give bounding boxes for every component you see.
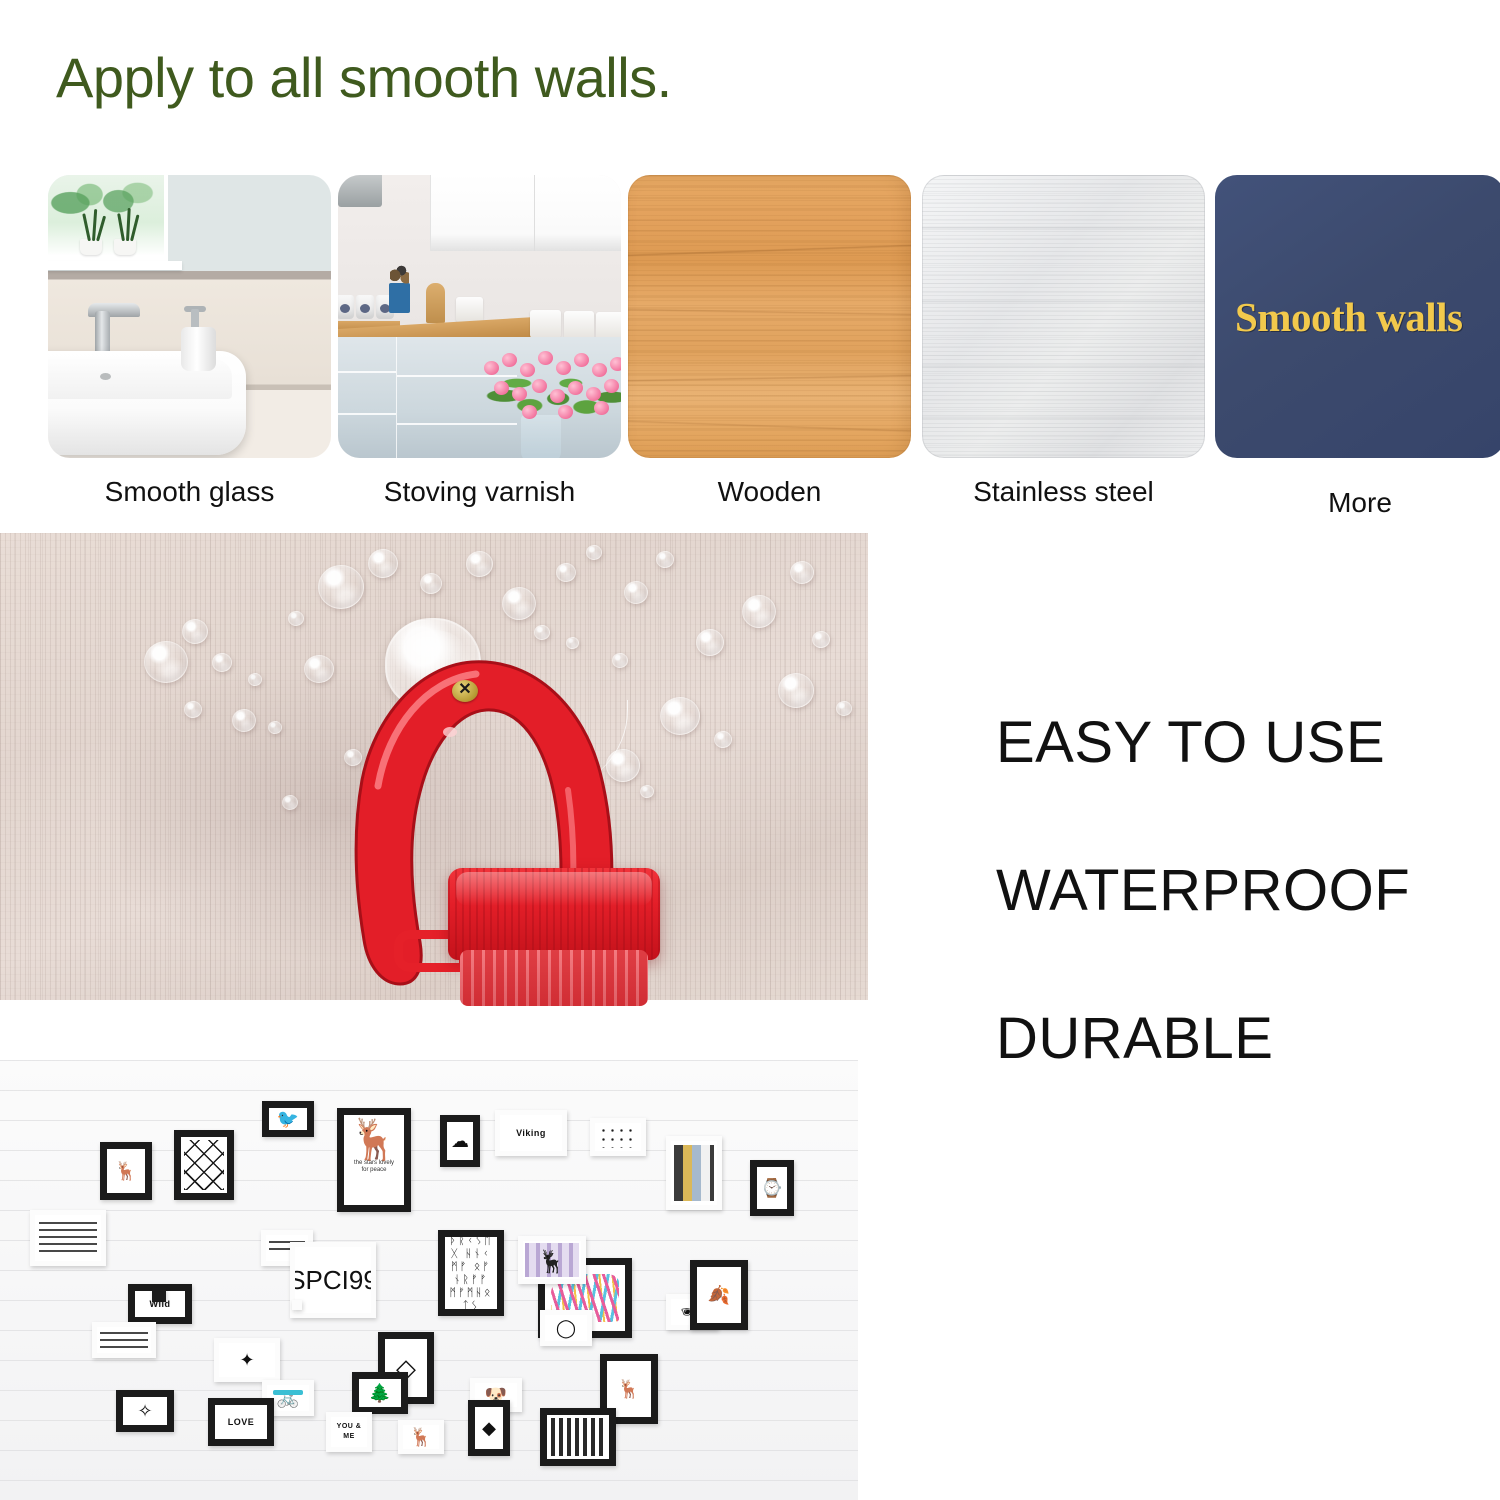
feature-waterproof: WATERPROOF [996, 860, 1476, 922]
photo-frame-wall-photo: 🦌 🐦 🦌 the stars lovely for peace ☁ Vikin… [0, 1060, 858, 1500]
drain-icon [100, 373, 111, 380]
plant-pot-icon [80, 239, 102, 255]
frame-colour-grid [666, 1136, 722, 1210]
frame-antlers-quote: 🦌 the stars lovely for peace [337, 1108, 411, 1212]
water-drop [836, 701, 852, 716]
frame-barcode-text [92, 1322, 156, 1358]
soap-dispenser-pump [191, 309, 199, 329]
soap-dispenser-icon [181, 327, 216, 371]
frame-abstract-bw: ◆ [468, 1400, 510, 1456]
frame-pine-tree: 🌲 [352, 1372, 408, 1414]
water-drop [790, 561, 814, 584]
bottle-neck [460, 950, 648, 1006]
water-drop [268, 721, 282, 734]
barcode-icon [100, 1332, 148, 1349]
surface-item-smooth-glass: Smooth glass [48, 175, 331, 509]
quote-text: the stars lovely for peace [350, 1160, 398, 1174]
surface-caption-wooden: Wooden [628, 475, 911, 509]
surface-caption-smooth-glass: Smooth glass [48, 475, 331, 509]
kitchen-cabinets-photo [338, 175, 621, 458]
sink-basin [48, 351, 246, 455]
utensil-holder-icon [389, 283, 410, 313]
water-drop [420, 573, 442, 594]
frame-deer-line-art: 🦌 [100, 1142, 152, 1200]
frame-love: LOVE [208, 1398, 274, 1446]
spice-jar-icon [338, 295, 354, 319]
spice-jar-icon [356, 295, 374, 319]
frame-bird-silhouette: 🐦 [262, 1101, 314, 1137]
water-drop [466, 551, 493, 577]
abstract-bw-icon: ◆ [482, 1419, 496, 1437]
water-drop [144, 641, 188, 683]
feature-easy-to-use: EASY TO USE [996, 712, 1476, 774]
water-drop [696, 629, 724, 656]
water-drop [184, 701, 202, 718]
surface-item-more: Smooth walls More [1215, 175, 1500, 520]
surface-item-wooden: Wooden [628, 175, 911, 509]
feature-list: EASY TO USE WATERPROOF DURABLE [996, 712, 1476, 1070]
frame-spci99: SPCI99 [290, 1242, 376, 1318]
frame-abstract-ink: ☁ [440, 1115, 480, 1167]
frame-ring-sketch: ◯ [540, 1310, 592, 1346]
frame-spacer [152, 1288, 166, 1302]
ring-icon: ◯ [556, 1319, 576, 1337]
range-hood-icon [338, 175, 382, 207]
rune-text: ᚦᚱᚲᛊᛖᚷ ᚺᚾᚲᛗᚠ ᛟᚠᚾᚱᚠᚠ ᛗᚠᛗᚺᛟᛏᛊ [449, 1244, 493, 1302]
surface-types-strip: Smooth glass [0, 175, 1500, 520]
cutting-board-icon [426, 283, 445, 323]
water-drop [368, 549, 398, 578]
frame-spacer [292, 1300, 302, 1310]
viking-label: Viking [516, 1128, 546, 1138]
frame-reindeer: 🦌 [398, 1420, 444, 1454]
water-drop [534, 625, 550, 640]
frame-braille [590, 1118, 646, 1156]
water-drop [714, 731, 732, 748]
rose-bouquet-icon [476, 327, 621, 458]
pine-tree-icon: 🌲 [369, 1384, 391, 1402]
water-drop [586, 545, 602, 560]
frame-ink-swirl: ✧ [116, 1390, 174, 1432]
surface-item-stoving-varnish: Stoving varnish [338, 175, 621, 509]
window-sill [48, 261, 182, 270]
antlers-icon: 🦌 [344, 1120, 404, 1160]
bike-bar-icon [273, 1390, 303, 1395]
surface-caption-stoving-varnish: Stoving varnish [338, 475, 621, 509]
water-drop [212, 653, 232, 672]
water-drop [318, 565, 364, 609]
bird-brush-icon: ✦ [239, 1351, 254, 1369]
water-drop [502, 587, 536, 620]
water-drop [742, 595, 776, 628]
drawer-line [338, 371, 396, 373]
leaf-icon: 🍂 [708, 1286, 730, 1304]
navy-smooth-wall-swatch: Smooth walls [1215, 175, 1500, 458]
surface-item-stainless-steel: Stainless steel [922, 175, 1205, 509]
spci99-label: SPCI99 [295, 1267, 371, 1293]
surface-caption-stainless-steel: Stainless steel [922, 475, 1205, 509]
plant-pot-icon [114, 239, 136, 255]
clock-icon: ⌚ [761, 1179, 783, 1197]
ink-blot-icon: ☁ [451, 1132, 469, 1150]
water-drop [182, 619, 208, 644]
ink-swirl-icon: ✧ [137, 1402, 152, 1420]
window-icon [48, 175, 168, 261]
upper-cabinets [430, 175, 621, 251]
bird-icon: 🐦 [277, 1110, 299, 1128]
water-drop [656, 551, 674, 568]
drawer-line [338, 413, 396, 415]
page-title: Apply to all smooth walls. [56, 46, 672, 110]
diamond-pattern-icon [184, 1140, 225, 1189]
feature-durable: DURABLE [996, 1008, 1476, 1070]
red-bottle-cap [448, 868, 660, 960]
surface-caption-more: More [1215, 486, 1500, 520]
you-and-me-label: YOU & ME [331, 1422, 367, 1442]
water-drop [288, 611, 304, 626]
water-drop [812, 631, 830, 648]
frame-viking: Viking [495, 1110, 567, 1156]
water-drop [248, 673, 262, 686]
purple-forest-icon [525, 1243, 578, 1276]
canister-icon [456, 297, 483, 322]
bathroom-sink-photo [48, 175, 331, 458]
water-drop [778, 673, 814, 708]
brushed-steel-swatch [922, 175, 1205, 458]
water-drop [232, 709, 256, 732]
navy-swatch-label: Smooth walls [1215, 295, 1500, 339]
braille-dots-icon [599, 1126, 638, 1148]
vase-icon [521, 415, 561, 458]
forest-scene-icon [551, 1418, 604, 1456]
frame-clock-sketch: ⌚ [750, 1160, 794, 1216]
colour-grid-icon [674, 1145, 715, 1201]
frame-leaf: 🍂 [690, 1260, 748, 1330]
frame-you-and-me: YOU & ME [326, 1412, 372, 1452]
water-drop [624, 581, 648, 604]
frame-rune-alphabet: ᚦᚱᚲᛊᛖᚷ ᚺᚾᚲᛗᚠ ᛟᚠᚾᚱᚠᚠ ᛗᚠᛗᚺᛟᛏᛊ [438, 1230, 504, 1316]
frame-forest-scene [540, 1408, 616, 1466]
wood-grain-swatch [628, 175, 911, 458]
screw-cross-icon [452, 680, 478, 702]
handwriting-icon [39, 1222, 97, 1252]
stag-geometric-icon: 🦌 [618, 1380, 640, 1398]
water-drop [556, 563, 576, 582]
water-drop [660, 697, 700, 735]
deer-head-icon: 🦌 [115, 1162, 137, 1180]
love-label: LOVE [228, 1417, 255, 1427]
frame-ink-brush-bird: ✦ [214, 1338, 280, 1382]
frame-calligraphy-note [30, 1210, 106, 1266]
reindeer-icon: 🦌 [410, 1428, 432, 1446]
frame-diamond-pattern [174, 1130, 234, 1200]
water-drop [282, 795, 298, 810]
frame-purple-deer-forest [518, 1236, 586, 1284]
